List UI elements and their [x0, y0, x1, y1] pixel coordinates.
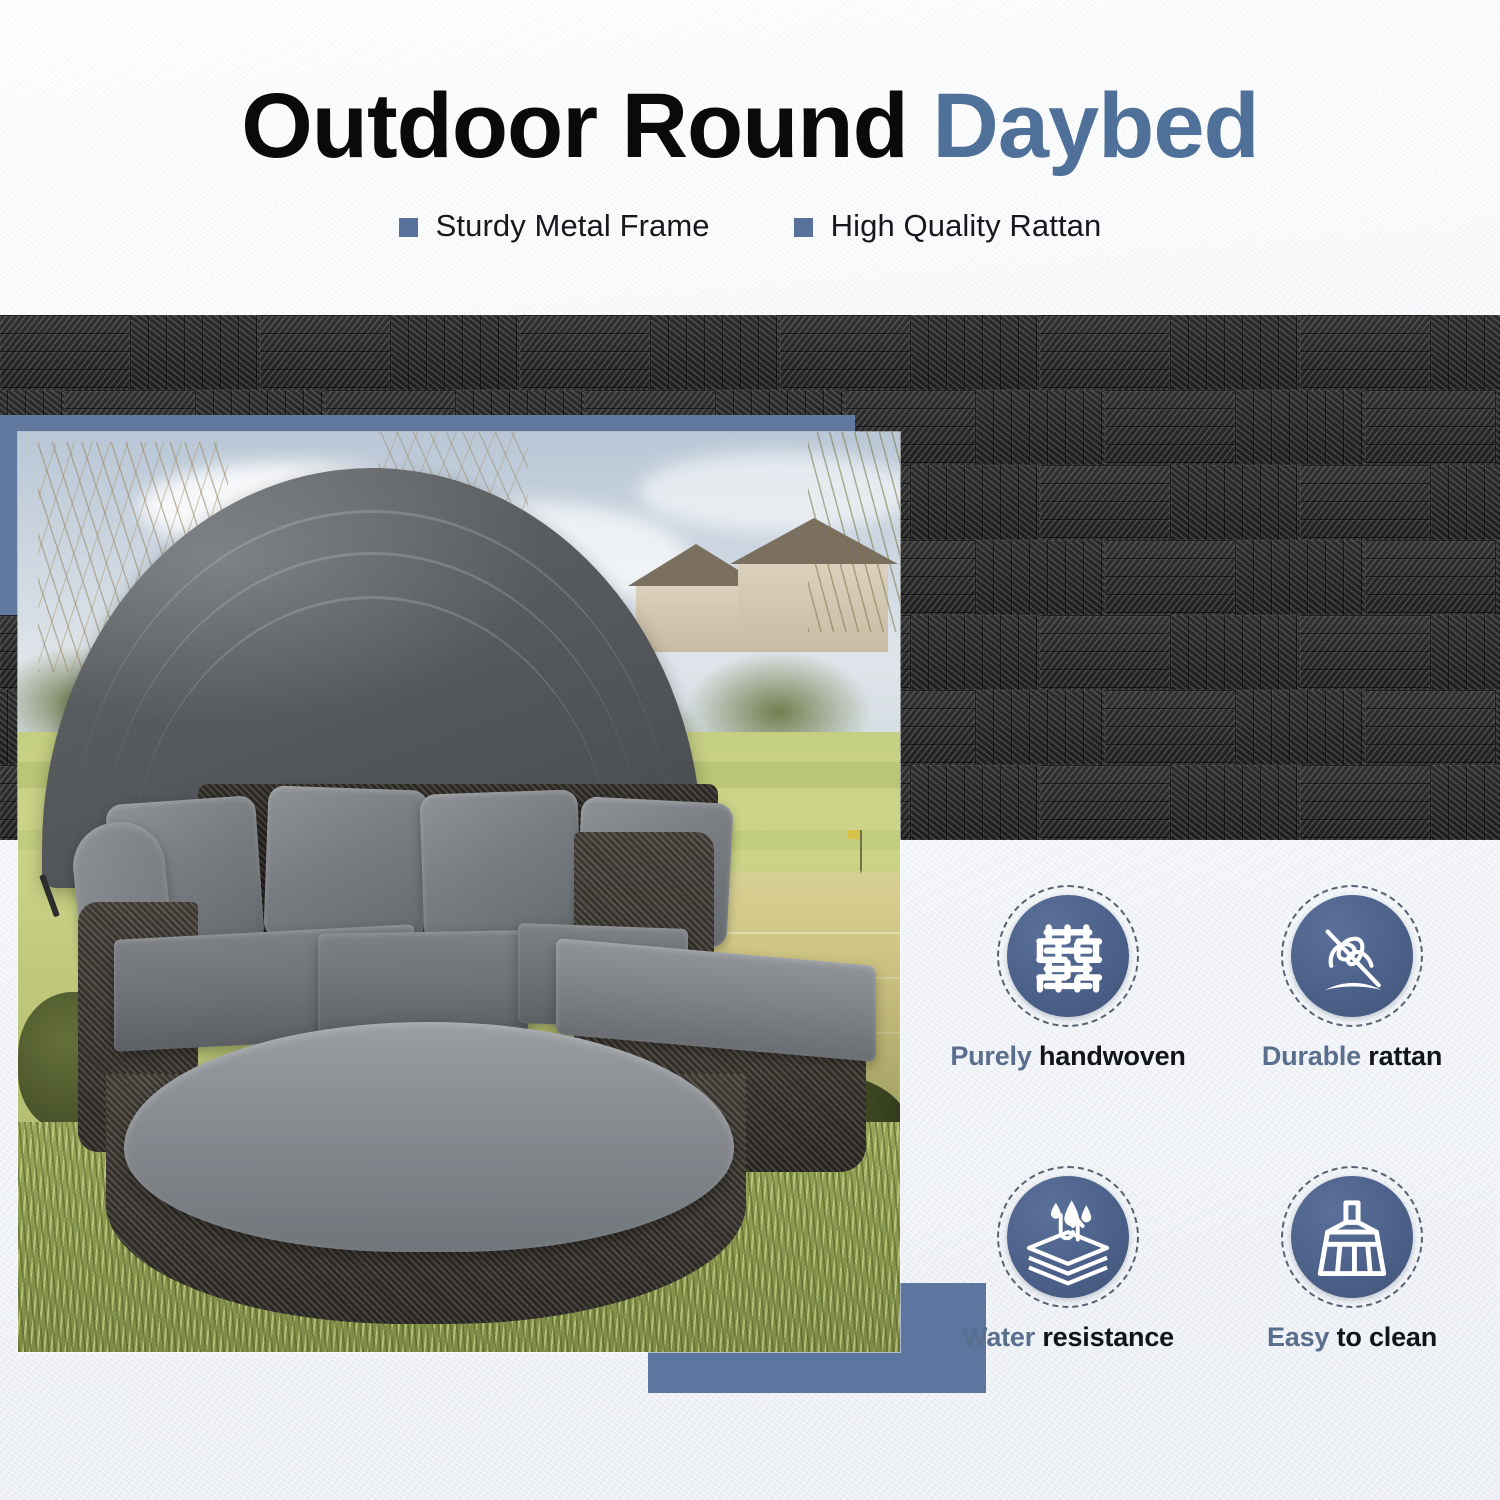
- product-photo: [18, 432, 900, 1352]
- weave-cell-vertical: [1430, 315, 1500, 390]
- weave-cell-vertical: [910, 315, 1040, 390]
- weave-cell-horizontal: [1300, 465, 1430, 540]
- feature-label-secondary: to clean: [1337, 1322, 1437, 1352]
- feature-label-primary: Purely: [950, 1041, 1031, 1071]
- bare-tree: [808, 432, 900, 632]
- title-accent: Daybed: [932, 75, 1258, 177]
- weave-cell-vertical: [650, 315, 780, 390]
- golf-flag: [848, 830, 860, 839]
- weave-cell-vertical: [1235, 390, 1365, 465]
- feature-label: Water resistance: [962, 1322, 1174, 1353]
- weave-cell-vertical: [1170, 465, 1300, 540]
- feature-label: Purely handwoven: [950, 1041, 1185, 1072]
- weave-cell-vertical: [975, 540, 1105, 615]
- weave-cell-horizontal: [1300, 615, 1430, 690]
- page-title: Outdoor Round Daybed: [0, 78, 1500, 175]
- weave-cell-vertical: [1430, 765, 1500, 840]
- water-drop-layers-icon: [1007, 1176, 1129, 1298]
- weave-cell-vertical: [910, 615, 1040, 690]
- pillow: [419, 789, 582, 944]
- weave-cell-vertical: [1495, 540, 1500, 615]
- feature-grid: Purely handwoven Durable rattan: [930, 885, 1490, 1425]
- feature-label-secondary: rattan: [1368, 1041, 1442, 1071]
- weave-cell-vertical: [975, 390, 1105, 465]
- weave-cell-vertical: [1170, 765, 1300, 840]
- poster-canvas: Outdoor Round Daybed Sturdy Metal Frame …: [0, 0, 1500, 1500]
- weave-cell-vertical: [390, 315, 520, 390]
- weave-cell-horizontal: [1300, 315, 1430, 390]
- weave-cell-vertical: [1430, 465, 1500, 540]
- weave-cell-horizontal: [1365, 540, 1495, 615]
- pillow: [263, 785, 428, 942]
- icon-wrap: [997, 1166, 1139, 1308]
- icon-wrap: [1281, 885, 1423, 1027]
- weave-cell-vertical: [1235, 540, 1365, 615]
- weave-cell-horizontal: [1040, 465, 1170, 540]
- weave-cell-vertical: [975, 690, 1105, 765]
- weave-cell-horizontal: [260, 315, 390, 390]
- weave-cell-horizontal: [1105, 540, 1235, 615]
- square-bullet-icon: [399, 218, 418, 237]
- subtitle-label: High Quality Rattan: [831, 208, 1102, 244]
- weave-cell-horizontal: [1040, 615, 1170, 690]
- feature-label-secondary: resistance: [1042, 1322, 1174, 1352]
- weave-cell-horizontal: [1040, 765, 1170, 840]
- weave-cell-vertical: [1495, 390, 1500, 465]
- weave-cell-vertical: [1235, 690, 1365, 765]
- weave-cell-horizontal: [1105, 390, 1235, 465]
- weave-cell-vertical: [1495, 690, 1500, 765]
- weave-cell-horizontal: [520, 315, 650, 390]
- weave-cell-horizontal: [0, 315, 130, 390]
- feature-label-primary: Water: [962, 1322, 1035, 1352]
- weave-cell-vertical: [910, 765, 1040, 840]
- title-primary: Outdoor Round: [241, 75, 908, 177]
- weave-cell-horizontal: [1365, 390, 1495, 465]
- broom-icon: [1291, 1176, 1413, 1298]
- anti-scratch-icon: [1291, 895, 1413, 1017]
- square-bullet-icon: [794, 218, 813, 237]
- weave-cell-vertical: [1170, 615, 1300, 690]
- feature-label-secondary: handwoven: [1039, 1041, 1186, 1071]
- weave-cell-horizontal: [1040, 315, 1170, 390]
- woven-pattern-icon: [1007, 895, 1129, 1017]
- feature-label: Durable rattan: [1262, 1041, 1442, 1072]
- subtitle-label: Sturdy Metal Frame: [436, 208, 710, 244]
- weave-cell-vertical: [1430, 615, 1500, 690]
- subtitle-bullets: Sturdy Metal Frame High Quality Rattan: [0, 208, 1500, 244]
- header: Outdoor Round Daybed Sturdy Metal Frame …: [0, 0, 1500, 315]
- feature-easy-to-clean[interactable]: Easy to clean: [1214, 1166, 1490, 1425]
- feature-purely-handwoven[interactable]: Purely handwoven: [930, 885, 1206, 1144]
- weave-cell-horizontal: [780, 315, 910, 390]
- subtitle-item-rattan: High Quality Rattan: [794, 208, 1102, 244]
- subtitle-item-metal-frame: Sturdy Metal Frame: [399, 208, 710, 244]
- weave-cell-horizontal: [1300, 765, 1430, 840]
- weave-cell-horizontal: [1105, 690, 1235, 765]
- icon-wrap: [1281, 1166, 1423, 1308]
- weave-cell-vertical: [1170, 315, 1300, 390]
- feature-durable-rattan[interactable]: Durable rattan: [1214, 885, 1490, 1144]
- feature-label-primary: Durable: [1262, 1041, 1361, 1071]
- icon-wrap: [997, 885, 1139, 1027]
- weave-row: [0, 315, 1500, 390]
- feature-label-primary: Easy: [1267, 1322, 1329, 1352]
- weave-cell-horizontal: [1365, 690, 1495, 765]
- feature-water-resistance[interactable]: Water resistance: [930, 1166, 1206, 1425]
- feature-label: Easy to clean: [1267, 1322, 1437, 1353]
- weave-cell-vertical: [130, 315, 260, 390]
- weave-cell-vertical: [910, 465, 1040, 540]
